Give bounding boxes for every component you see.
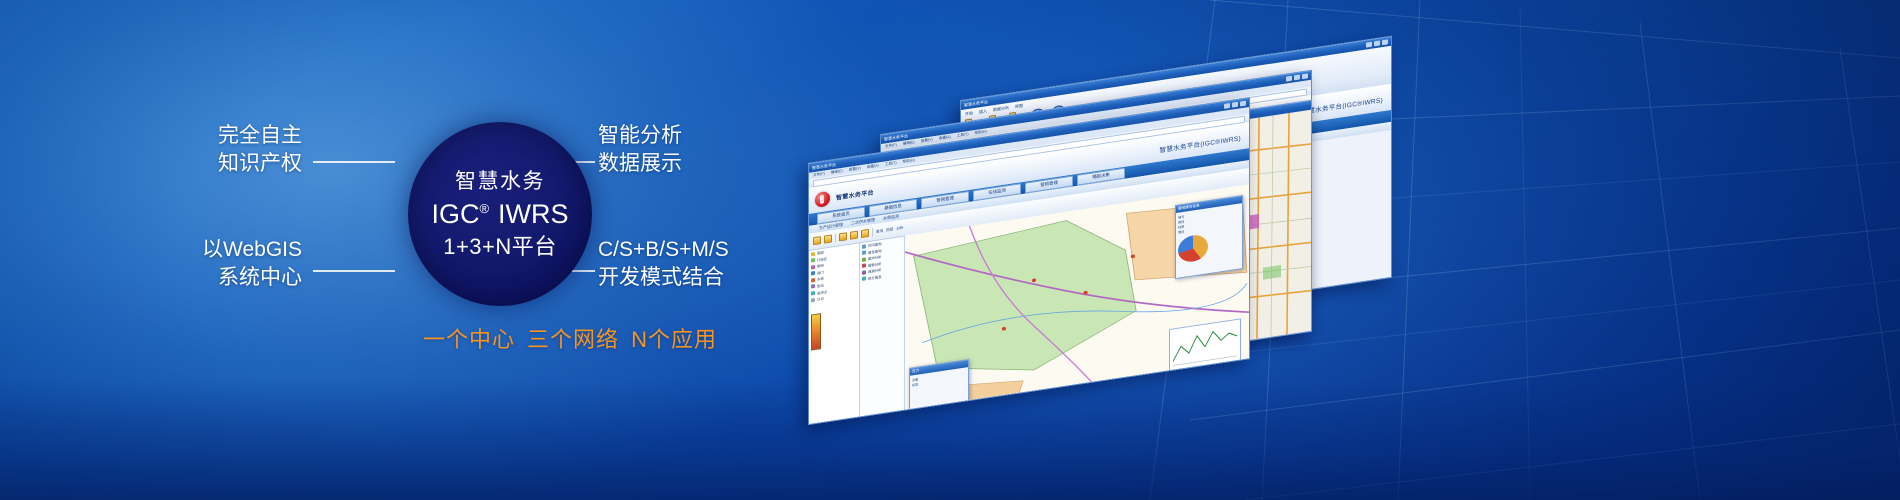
banner-root: 智慧水务平台 开始 插入 数据分析 视图 新建 打开 保存 另存为 (0, 0, 1900, 500)
layer-label: 行政区 (817, 256, 827, 263)
layer-label: 阀门 (817, 269, 824, 275)
status-scale: 比例尺 1:5000 (828, 421, 849, 425)
connector-bottom-left (313, 270, 395, 272)
toolbar-label[interactable]: 查询 (876, 228, 883, 234)
connector-top-left (313, 161, 395, 163)
attribute-dialog[interactable]: 管网属性信息 编号 管径 材质 埋深 (1175, 195, 1243, 279)
tagline-part-1: 一个中心 (423, 327, 515, 352)
layer-panel[interactable]: 图层 行政区 管网 阀门 水表 泵站 监测点 注记 (809, 242, 860, 425)
hub-line-2: IGC®IWRS (431, 201, 568, 228)
feature-line-1: 智能分析 (598, 122, 778, 150)
feature-line-1: 完全自主 (172, 122, 302, 150)
feature-bottom-left: 以WebGIS 系统中心 (172, 236, 302, 292)
layer-label: 泵站 (817, 283, 824, 289)
ribbon-tab[interactable]: 视图 (1015, 103, 1023, 110)
app-logo-label: 智慧水务平台 (836, 187, 874, 202)
window-front[interactable]: 智慧水务平台 文件(F) 编辑(E) 查看(V) 收藏(A) 工具(T) 帮助(… (808, 97, 1250, 425)
toolbar-label[interactable]: 图层 (886, 227, 893, 233)
tagline-part-2: 三个网络 (527, 327, 619, 352)
save-icon[interactable] (824, 234, 832, 243)
feature-line-1: C/S+B/S+M/S (598, 236, 778, 264)
layer-label: 监测点 (817, 289, 827, 296)
dialog-body: 编号 管径 材质 埋深 (1176, 203, 1242, 266)
feature-bottom-right: C/S+B/S+M/S 开发模式结合 (598, 236, 778, 292)
hub-brand-2: IWRS (498, 199, 569, 229)
feature-line-2: 系统中心 (172, 264, 302, 292)
hub-line-1: 智慧水务 (455, 171, 545, 192)
feature-top-right: 智能分析 数据展示 (598, 122, 778, 178)
feature-line-2: 数据展示 (598, 150, 778, 178)
hub-line-3: 1+3+N平台 (443, 236, 557, 258)
app-logo-icon (815, 190, 830, 207)
toolbar-separator (835, 234, 836, 242)
layer-label: 水表 (817, 276, 824, 282)
toolbar-separator (872, 228, 873, 236)
pie-chart (1178, 233, 1208, 263)
feature-line-1: 以WebGIS (172, 236, 302, 264)
open-icon[interactable] (813, 236, 821, 245)
tagline: 一个中心三个网络N个应用 (360, 322, 780, 354)
hub-brand: IGC (431, 199, 479, 229)
zoom-in-icon[interactable] (839, 232, 847, 241)
status-coords: 坐标 X:0 Y:0 (857, 417, 876, 425)
feature-line-2: 开发模式结合 (598, 264, 778, 292)
brand-hub: 智慧水务 IGC®IWRS 1+3+N平台 (408, 122, 592, 306)
ribbon-tab[interactable]: 插入 (979, 108, 987, 115)
feature-line-2: 知识产权 (172, 150, 302, 178)
screenshot-stack: 智慧水务平台 开始 插入 数据分析 视图 新建 打开 保存 另存为 (760, 30, 1900, 470)
feature-top-left: 完全自主 知识产权 (172, 122, 302, 178)
ribbon-tab[interactable]: 开始 (965, 110, 973, 117)
toolbar-label[interactable]: 分析 (896, 225, 903, 231)
info-dialog[interactable]: 压力 流量 状态 (909, 359, 969, 414)
tagline-part-3: N个应用 (631, 327, 717, 352)
registered-mark: ® (479, 201, 489, 216)
zoom-out-icon[interactable] (850, 231, 858, 240)
layer-label: 图层 (817, 250, 824, 256)
legend-gradient (811, 313, 821, 350)
tool-panel[interactable]: 空间查询 属性查询 缓冲分析 爆管分析 连通分析 统计报表 (860, 236, 905, 425)
tool-label: 统计报表 (868, 274, 882, 281)
layer-label: 注记 (817, 296, 824, 302)
layer-label: 管网 (817, 263, 824, 269)
pan-icon[interactable] (861, 229, 869, 238)
ribbon-tab[interactable]: 数据分析 (993, 105, 1009, 113)
